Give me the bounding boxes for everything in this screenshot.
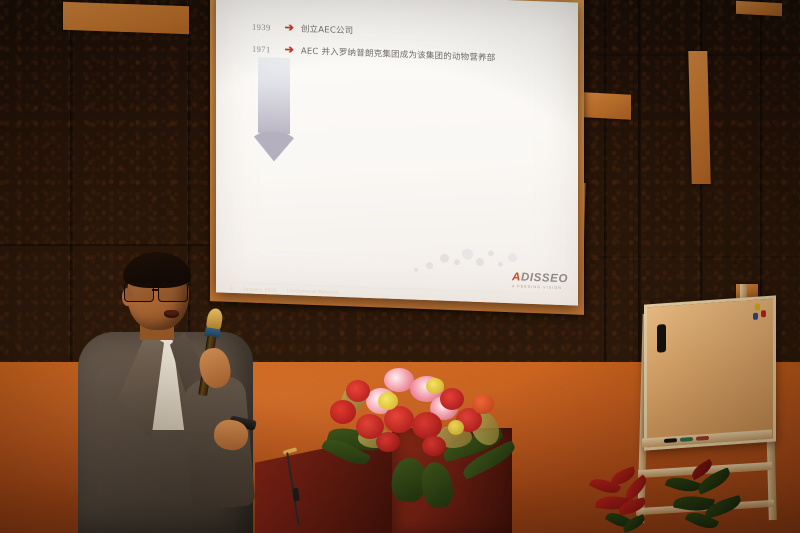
slide-footer-note: Institutional Relation (287, 287, 339, 294)
slide-text: 创立AEC公司 (301, 22, 354, 36)
logo-text: DISSEO (521, 271, 568, 285)
wall-accent-strip (736, 1, 782, 16)
wall-seam (596, 256, 800, 258)
marker-icon[interactable] (664, 438, 677, 443)
presenter (78, 252, 268, 533)
slide-year: 1971 (252, 44, 271, 55)
wall-groove (604, 0, 607, 400)
floral-arrangement (322, 366, 520, 506)
poinsettia-plant (660, 462, 750, 533)
magnet-icon[interactable] (761, 310, 766, 317)
presentation-room-photo: 1939 ➔ 创立AEC公司 1971 ➔ AEC 并入罗纳普朗克集团成为该集团… (0, 0, 800, 533)
arrow-icon: ➔ (285, 44, 294, 55)
logo-tagline: A FEEDING VISION (512, 286, 568, 292)
glasses-icon (122, 282, 194, 301)
wall-groove (70, 0, 73, 400)
board-clip (657, 324, 666, 353)
poinsettia-plant (588, 470, 658, 533)
arrow-icon: ➔ (285, 22, 294, 33)
down-arrow-graphic (249, 57, 299, 163)
projection-screen: 1939 ➔ 创立AEC公司 1971 ➔ AEC 并入罗纳普朗克集团成为该集团… (216, 0, 578, 306)
mouth (164, 310, 179, 318)
magnet-icon[interactable] (753, 313, 758, 320)
wall-accent-strip (63, 2, 189, 34)
wall-accent-strip (688, 51, 710, 184)
decorative-watermark (410, 243, 520, 281)
slide-year: 1939 (252, 22, 271, 33)
logo-accent-letter: A (512, 271, 521, 283)
slide-row: 1939 ➔ 创立AEC公司 (252, 21, 353, 37)
magnet-icon[interactable] (755, 304, 760, 311)
wall-seam (0, 244, 215, 246)
slide-text: AEC 并入罗纳普朗克集团成为该集团的动物营养部 (301, 44, 496, 63)
marker-icon[interactable] (696, 436, 709, 441)
whiteboard[interactable] (644, 295, 776, 450)
adisseo-logo: ADISSEO A FEEDING VISION (512, 272, 568, 291)
marker-icon[interactable] (680, 437, 693, 442)
